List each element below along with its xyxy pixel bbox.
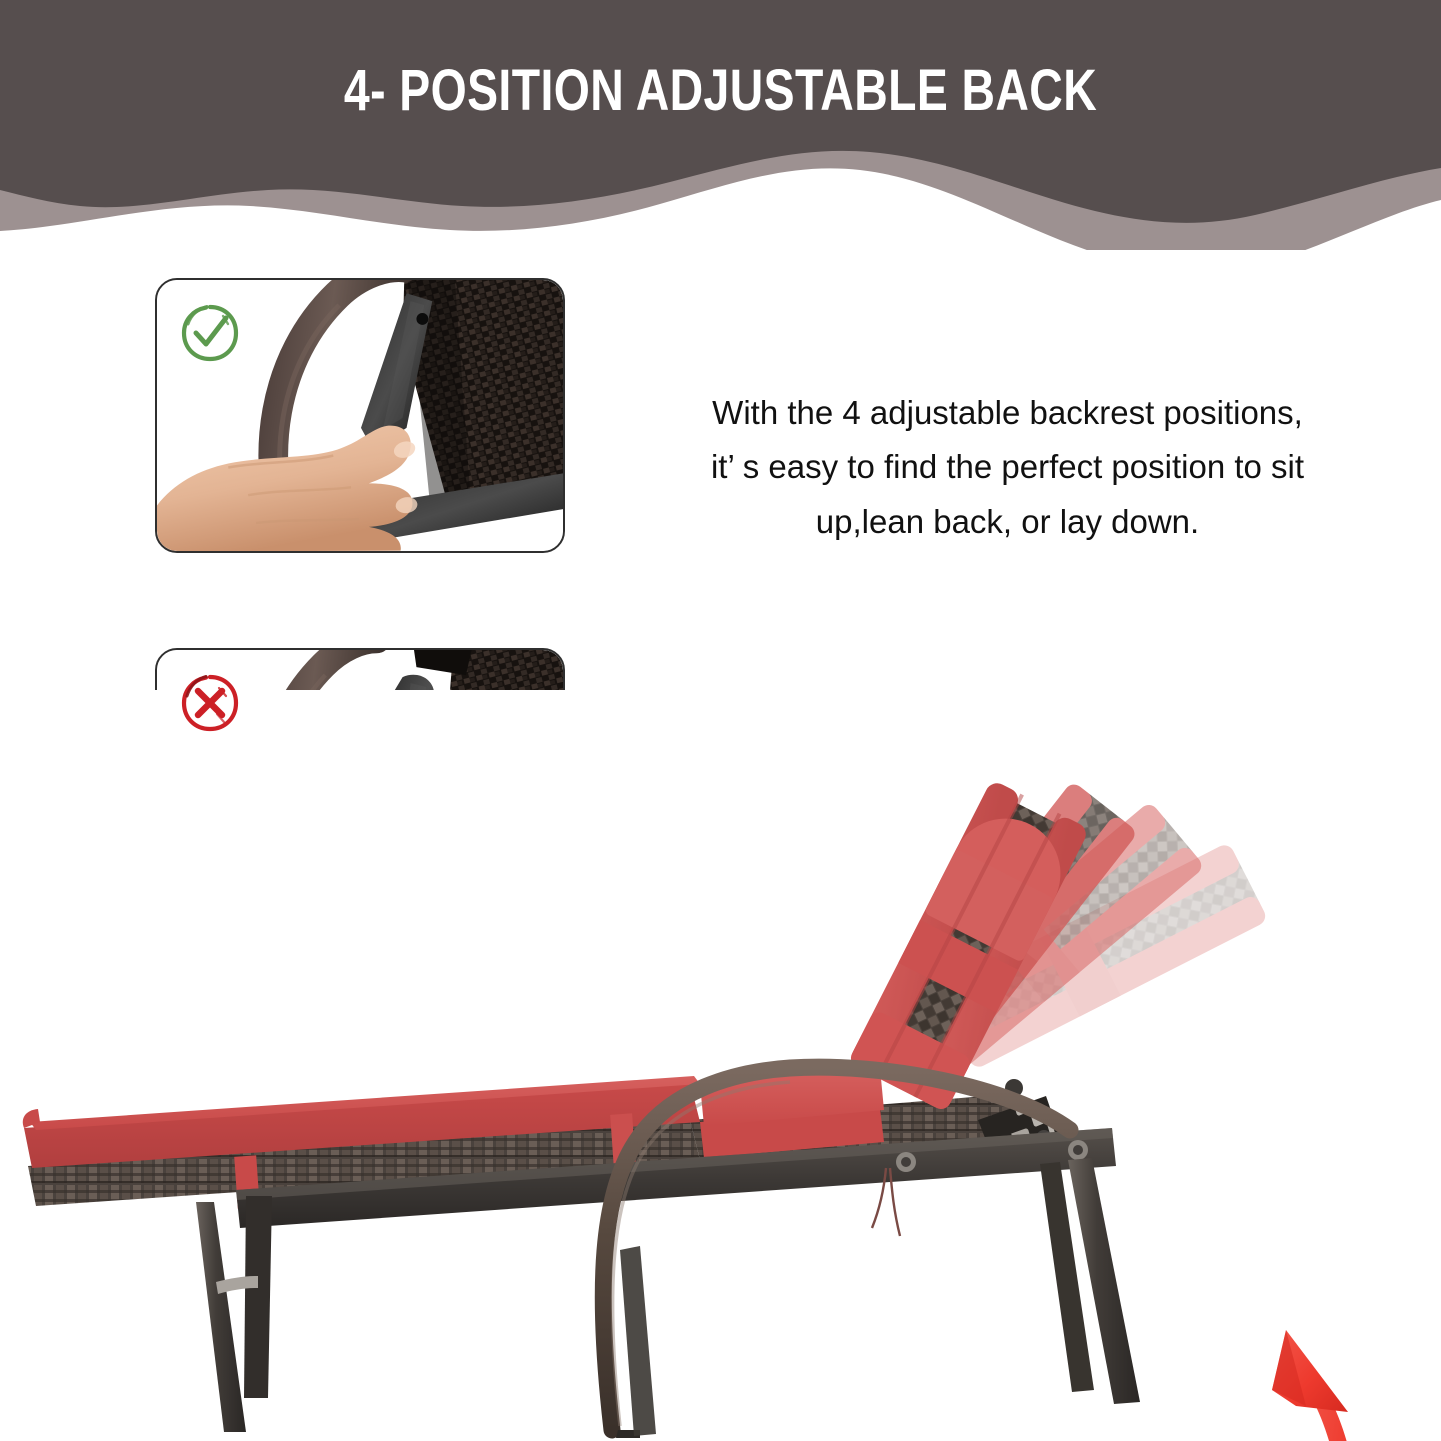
leg-front-inner (244, 1196, 272, 1398)
page-title: 4- POSITION ADJUSTABLE BACK (144, 62, 1297, 120)
red-cross-circle-icon (179, 672, 241, 734)
description-line-3: up,lean back, or lay down. (620, 495, 1395, 549)
header-wave-graphic (0, 0, 1441, 250)
green-check-circle-icon (179, 302, 241, 364)
product-illustration-stage (0, 690, 1441, 1441)
description-line-2: it’ s easy to find the perfect position … (620, 440, 1395, 494)
callout-card-correct (155, 278, 565, 553)
chaise-lounger-illustration (0, 690, 1441, 1441)
feature-description: With the 4 adjustable backrest positions… (620, 386, 1395, 549)
description-line-1: With the 4 adjustable backrest positions… (620, 386, 1395, 440)
header-banner: 4- POSITION ADJUSTABLE BACK (0, 0, 1441, 250)
